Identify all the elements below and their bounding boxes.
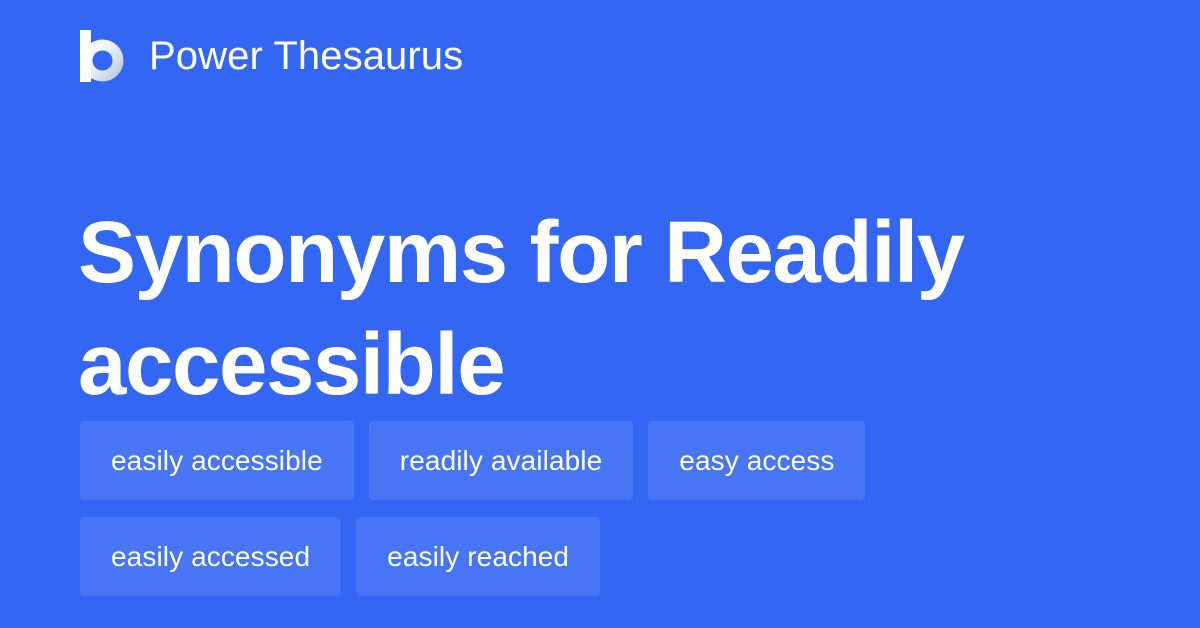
synonym-chip[interactable]: easily accessed xyxy=(80,517,341,596)
synonym-chip[interactable]: readily available xyxy=(369,421,634,500)
og-card: Power Thesaurus Synonyms for Readily acc… xyxy=(0,0,1200,628)
synonym-chip[interactable]: easily reached xyxy=(356,517,600,596)
synonym-chip[interactable]: easily accessible xyxy=(80,421,354,500)
synonym-chip-list: easily accessible readily available easy… xyxy=(80,421,1130,596)
brand-name: Power Thesaurus xyxy=(149,36,463,76)
power-thesaurus-b-logo-icon xyxy=(80,30,124,82)
synonym-chip[interactable]: easy access xyxy=(648,421,865,500)
brand-header[interactable]: Power Thesaurus xyxy=(80,28,463,84)
page-title: Synonyms for Readily accessible xyxy=(78,197,1118,421)
